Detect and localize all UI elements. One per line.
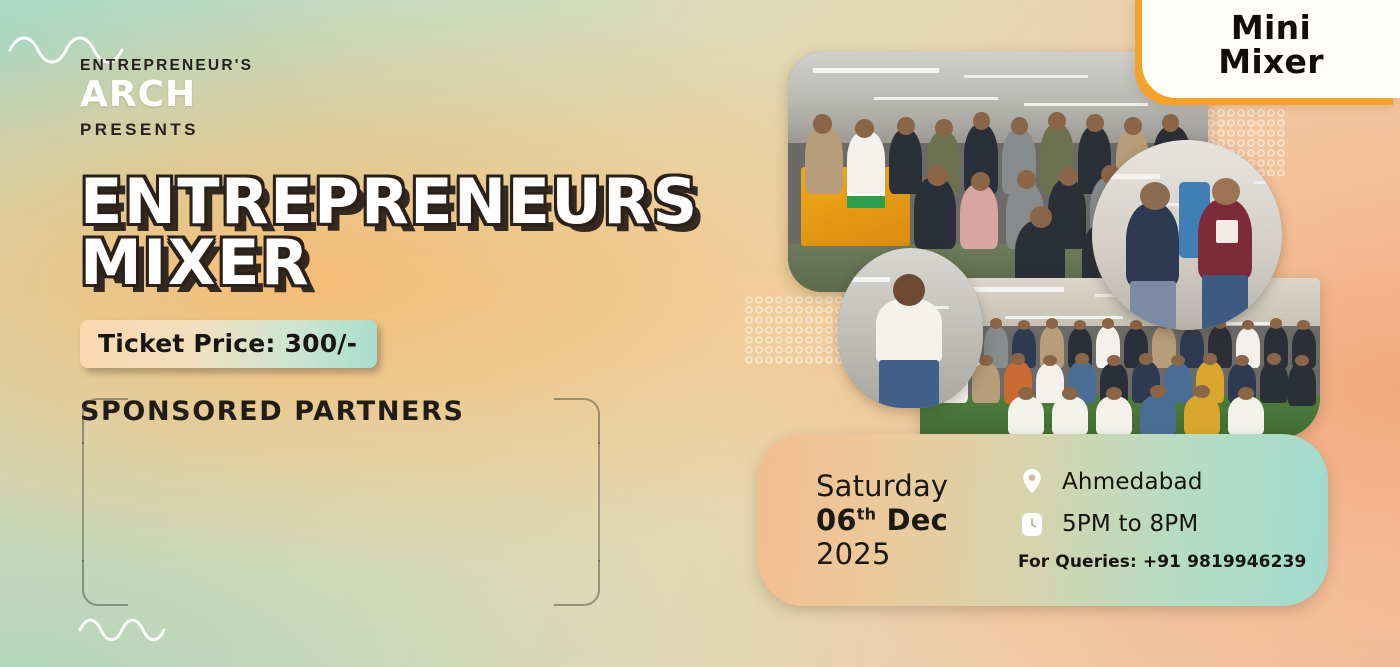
event-location-row: Ahmedabad (1018, 468, 1306, 496)
wavy-line-decoration-bottom (78, 618, 170, 642)
headline-line-2: MIXER (80, 233, 780, 294)
ticket-price-badge: Ticket Price: 300/- (80, 320, 377, 368)
clock-icon (1018, 510, 1046, 538)
brand-presents-label: PRESENTS (80, 121, 780, 138)
poster-left-content: ENTREPRENEUR'S ARCH PRESENTS ENTREPRENEU… (80, 58, 780, 427)
brand-logo-arch: ARCH (80, 76, 780, 114)
contact-queries: For Queries: +91 9819946239 (1018, 552, 1306, 572)
corner-bracket-bottom-left (82, 560, 128, 606)
event-date-number: 06 (816, 503, 857, 537)
location-pin-icon (1018, 468, 1046, 496)
event-meta-block: Ahmedabad 5PM to 8PM For Queries: +91 98… (1018, 468, 1306, 572)
mini-mixer-line1: Mini (1231, 11, 1311, 45)
event-details-card: Saturday 06th Dec 2025 Ahmedabad (758, 434, 1328, 606)
photo-man-white-shirt (838, 248, 983, 408)
corner-bracket-bottom-right (554, 560, 600, 606)
event-time-row: 5PM to 8PM (1018, 510, 1306, 538)
mini-mixer-line2: Mixer (1218, 45, 1324, 79)
corner-bracket-top-right (554, 398, 600, 444)
sponsored-partners-placeholder (82, 398, 600, 606)
brand-tagline: ENTREPRENEUR'S (80, 58, 780, 74)
event-date: 06th Dec (816, 503, 1006, 537)
page-title: ENTREPRENEURS MIXER (80, 172, 780, 294)
event-date-suffix: th (857, 504, 876, 523)
event-year: 2025 (816, 537, 1006, 571)
event-poster: Mini Mixer ENTREPRENEUR'S ARCH PRESENTS … (0, 0, 1400, 667)
event-time: 5PM to 8PM (1062, 511, 1198, 537)
event-month: Dec (887, 503, 949, 537)
placeholder-edge-right (598, 442, 600, 562)
event-location: Ahmedabad (1062, 469, 1203, 495)
corner-bracket-top-left (82, 398, 128, 444)
photo-two-men-conversation (1092, 140, 1282, 330)
event-day: Saturday (816, 469, 1006, 503)
placeholder-edge-left (82, 442, 84, 562)
mini-mixer-badge: Mini Mixer (1142, 0, 1400, 98)
event-date-block: Saturday 06th Dec 2025 (816, 469, 1006, 572)
